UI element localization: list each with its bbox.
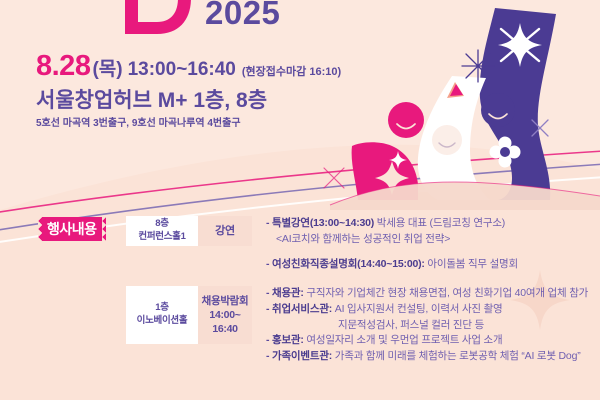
detail-line: <AI코치와 함께하는 성공적인 취업 전략> bbox=[266, 232, 583, 248]
program-place-cell-1: 8층 컨퍼런스홀1 bbox=[126, 216, 198, 246]
purple-sparkle-icon bbox=[324, 168, 344, 188]
detail-dash: - bbox=[266, 287, 269, 299]
white-sparkle-icon bbox=[375, 161, 409, 195]
event-poster: 2025 8.28(목)13:00~16:40(현장접수마감 16:10) 서울… bbox=[0, 0, 600, 400]
program-badge: 행사내용 bbox=[38, 217, 106, 241]
event-time: 13:00~16:40 bbox=[128, 59, 236, 80]
detail-line: 지문적성검사, 퍼스널 컬러 진단 등 bbox=[266, 318, 588, 334]
detail-line: - 취업서비스관: AI 입사지원서 컨설팅, 이력서 사진 촬영 bbox=[266, 302, 588, 318]
detail-line: - 홍보관: 여성일자리 소개 및 우먼업 프로젝트 사업 소개 bbox=[266, 333, 588, 349]
detail-strong: 가족이벤트관: bbox=[272, 350, 332, 362]
program-detail-col-1: - 특별강연(13:00~14:30) 박세용 대표 (드림코칭 연구소) <A… bbox=[252, 216, 583, 272]
program-row-jobfair: 1층 이노베이션홀 채용박람회 14:00~ 16:40 - 채용관: 구직자와… bbox=[38, 286, 583, 386]
program-kind-cell-1: 강연 bbox=[198, 216, 252, 246]
detail-dash: - bbox=[266, 217, 269, 229]
event-subway-access: 5호선 마곡역 3번출구, 9호선 마곡나루역 4번출구 bbox=[36, 119, 456, 129]
detail-strong: 홍보관: bbox=[272, 334, 304, 346]
program-row-lecture: 행사내용 8층 컨퍼런스홀1 강연 - 특별강연(13:00~14:30) 박세… bbox=[38, 216, 583, 276]
detail-dash: - bbox=[266, 350, 269, 362]
onsite-deadline-note: (현장접수마감 16:10) bbox=[242, 66, 341, 78]
detail-text: AI 입사지원서 컨설팅, 이력서 사진 촬영 bbox=[332, 303, 502, 315]
event-venue: 서울창업허브 M+ 1층, 8층 bbox=[36, 90, 456, 111]
detail-text: 박세용 대표 (드림코칭 연구소) bbox=[374, 217, 505, 229]
purple-sparkle-icon bbox=[532, 120, 548, 136]
white-sparkle-icon bbox=[498, 23, 542, 67]
detail-line: - 가족이벤트관: 가족과 함께 미래를 체험하는 로봇공학 체험 “AI 로봇… bbox=[266, 349, 588, 365]
detail-strong: 특별강연(13:00~14:30) bbox=[272, 217, 374, 229]
detail-strong: 취업서비스관: bbox=[272, 303, 332, 315]
program-badge-col: 행사내용 bbox=[38, 216, 126, 241]
program-table: 행사내용 8층 컨퍼런스홀1 강연 - 특별강연(13:00~14:30) 박세… bbox=[38, 216, 583, 386]
event-info-block: 8.28(목)13:00~16:40(현장접수마감 16:10) 서울창업허브 … bbox=[36, 52, 456, 129]
program-badge-col-spacer bbox=[38, 286, 126, 287]
detail-line: - 채용관: 구직자와 기업체간 현장 채용면접, 여성 친화기업 40여개 업… bbox=[266, 286, 588, 302]
detail-line: - 특별강연(13:00~14:30) 박세용 대표 (드림코칭 연구소) bbox=[266, 216, 583, 232]
program-place-cell-2: 1층 이노베이션홀 bbox=[126, 286, 198, 344]
detail-text: 아이돌봄 직무 설명회 bbox=[425, 258, 518, 270]
detail-text: 구직자와 기업체간 현장 채용면접, 여성 친화기업 40여개 업체 참가 bbox=[304, 287, 588, 299]
detail-text: <AI코치와 함께하는 성공적인 취업 전략> bbox=[276, 233, 450, 245]
program-kind-cell-2: 채용박람회 14:00~ 16:40 bbox=[198, 286, 252, 344]
white-flower-icon bbox=[490, 137, 521, 168]
detail-dash: - bbox=[266, 334, 269, 346]
event-date: 8.28 bbox=[36, 50, 90, 82]
place-line-2: 컨퍼런스홀1 bbox=[138, 231, 185, 244]
detail-spacer bbox=[266, 248, 583, 257]
white-sparkle-icon bbox=[389, 151, 407, 169]
detail-text: 지문적성검사, 퍼스널 컬러 진단 등 bbox=[338, 319, 484, 331]
purple-sparkle-icon bbox=[462, 50, 494, 82]
kind-line-3: 16:40 bbox=[212, 322, 237, 336]
purple-person-figure bbox=[480, 8, 556, 200]
detail-line: - 여성친화직종설명회(14:40~15:00): 아이돌봄 직무 설명회 bbox=[266, 257, 583, 273]
place-line-1: 1층 bbox=[155, 302, 168, 315]
detail-text: 가족과 함께 미래를 체험하는 로봇공학 체험 “AI 로봇 Dog” bbox=[332, 350, 580, 362]
place-line-1: 8층 bbox=[155, 218, 168, 231]
kind-line-2: 14:00~ bbox=[209, 308, 240, 322]
kind-line-1: 강연 bbox=[215, 224, 235, 239]
kind-line-1: 채용박람회 bbox=[202, 294, 249, 308]
detail-strong: 채용관: bbox=[272, 287, 304, 299]
detail-text: 여성일자리 소개 및 우먼업 프로젝트 사업 소개 bbox=[304, 334, 503, 346]
place-line-2: 이노베이션홀 bbox=[137, 315, 188, 328]
logo-band: 2025 bbox=[0, 0, 340, 46]
program-detail-col-2: - 채용관: 구직자와 기업체간 현장 채용면접, 여성 친화기업 40여개 업… bbox=[252, 286, 588, 365]
detail-strong: 여성친화직종설명회(14:40~15:00): bbox=[272, 258, 425, 270]
detail-dash: - bbox=[266, 258, 269, 270]
event-weekday: (목) bbox=[92, 59, 122, 80]
event-datetime-line: 8.28(목)13:00~16:40(현장접수마감 16:10) bbox=[36, 52, 456, 81]
detail-dash: - bbox=[266, 303, 269, 315]
event-logo-mark bbox=[95, 0, 215, 40]
logo-year: 2025 bbox=[205, 0, 280, 29]
